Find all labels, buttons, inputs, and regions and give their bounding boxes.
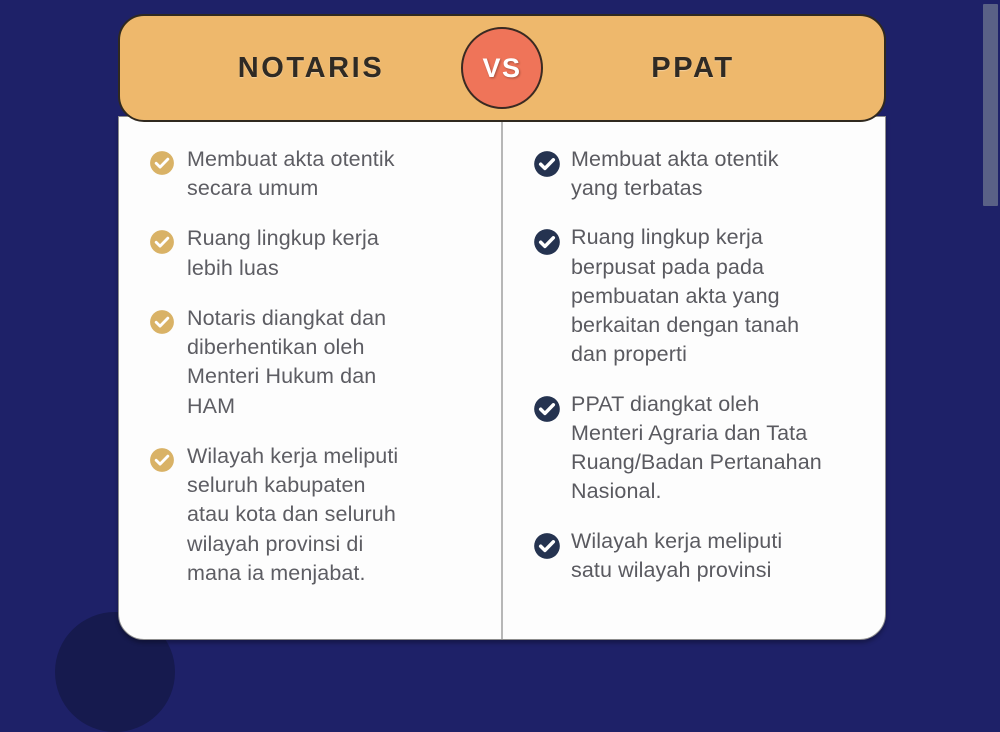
list-item: Ruang lingkup kerja lebih luas bbox=[149, 224, 487, 282]
check-circle-icon bbox=[149, 229, 175, 255]
scrollbar-thumb[interactable] bbox=[983, 4, 998, 206]
list-item-text: PPAT diangkat oleh Menteri Agraria dan T… bbox=[571, 390, 822, 507]
list-item-text: Ruang lingkup kerja lebih luas bbox=[187, 224, 379, 282]
header-title-ppat: PPAT bbox=[502, 52, 884, 85]
list-item-text: Wilayah kerja meliputi seluruh kabupaten… bbox=[187, 442, 398, 588]
list-item: Wilayah kerja meliputi satu wilayah prov… bbox=[533, 527, 871, 585]
check-circle-icon bbox=[533, 150, 561, 178]
check-circle-icon bbox=[533, 532, 561, 560]
column-notaris: Membuat akta otentik secara umum Ruang l… bbox=[119, 117, 509, 639]
list-item-text: Ruang lingkup kerja berpusat pada pada p… bbox=[571, 223, 799, 369]
vs-badge-label: VS bbox=[482, 53, 521, 84]
list-item-text: Membuat akta otentik yang terbatas bbox=[571, 145, 779, 203]
check-circle-icon bbox=[533, 228, 561, 256]
list-item-text: Wilayah kerja meliputi satu wilayah prov… bbox=[571, 527, 782, 585]
check-circle-icon bbox=[149, 309, 175, 335]
page-scrollbar[interactable] bbox=[982, 0, 1000, 644]
list-item: Ruang lingkup kerja berpusat pada pada p… bbox=[533, 223, 871, 369]
list-item-text: Notaris diangkat dan diberhentikan oleh … bbox=[187, 304, 386, 421]
list-item: Membuat akta otentik yang terbatas bbox=[533, 145, 871, 203]
comparison-body: Membuat akta otentik secara umum Ruang l… bbox=[118, 116, 886, 640]
column-ppat: Membuat akta otentik yang terbatas Ruang… bbox=[509, 117, 885, 639]
list-item: Membuat akta otentik secara umum bbox=[149, 145, 487, 203]
comparison-header: NOTARIS PPAT VS bbox=[118, 14, 886, 122]
check-circle-icon bbox=[149, 150, 175, 176]
list-item: Notaris diangkat dan diberhentikan oleh … bbox=[149, 304, 487, 421]
list-item-text: Membuat akta otentik secara umum bbox=[187, 145, 395, 203]
column-divider bbox=[501, 117, 503, 639]
list-item: PPAT diangkat oleh Menteri Agraria dan T… bbox=[533, 390, 871, 507]
check-circle-icon bbox=[149, 447, 175, 473]
list-item: Wilayah kerja meliputi seluruh kabupaten… bbox=[149, 442, 487, 588]
vs-badge: VS bbox=[461, 27, 543, 109]
check-circle-icon bbox=[533, 395, 561, 423]
header-title-notaris: NOTARIS bbox=[120, 52, 502, 85]
comparison-card: NOTARIS PPAT VS Membuat akta otentik sec… bbox=[118, 14, 886, 640]
